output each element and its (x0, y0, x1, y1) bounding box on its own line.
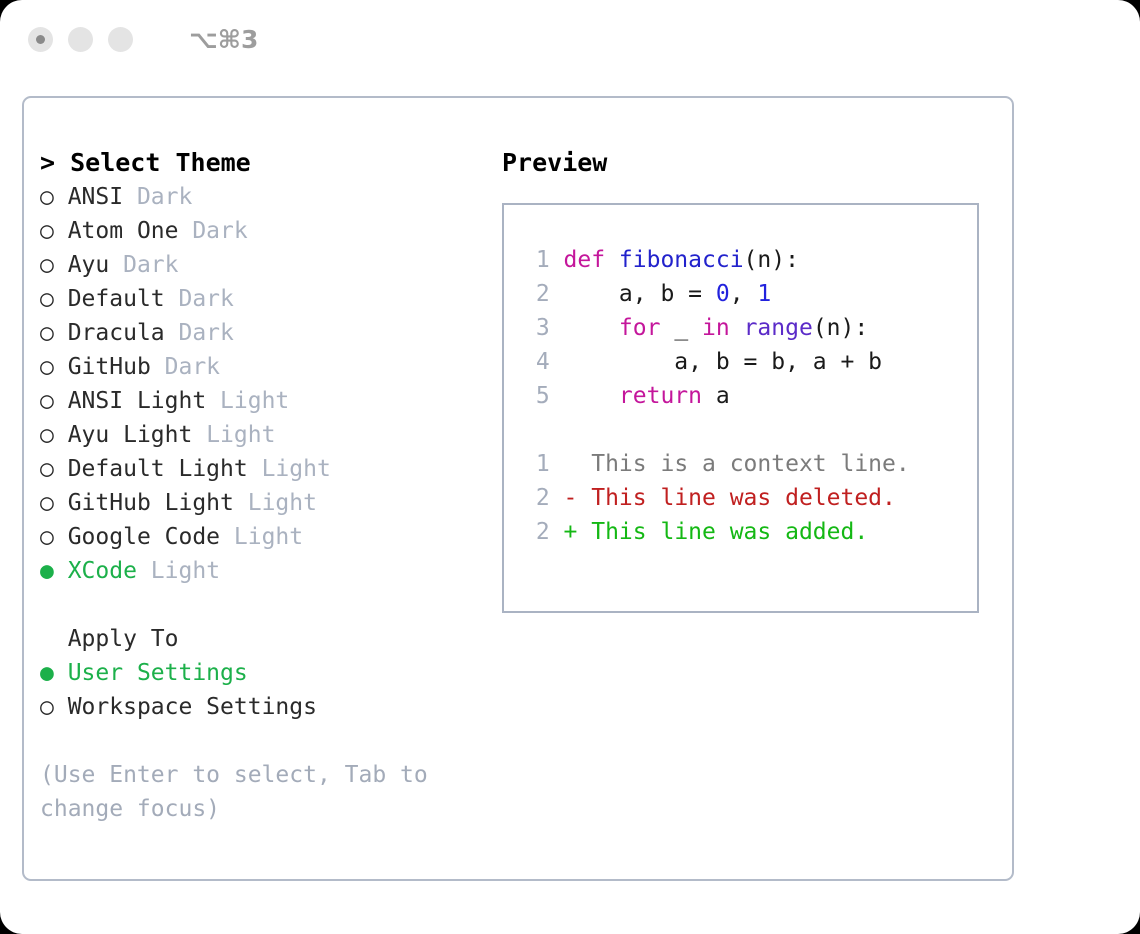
app-window: ⌥⌘3 > Select Theme ○ ANSI Dark○ Atom One… (0, 0, 1140, 934)
code-line: 4 a, b = b, a + b (522, 345, 977, 379)
diff-line: 2- This line was deleted. (522, 481, 977, 515)
theme-list-item[interactable]: ○ Ayu Dark (40, 248, 485, 282)
radio-unselected-icon: ○ (40, 490, 54, 516)
radio-unselected-icon: ○ (40, 456, 54, 482)
theme-name: Default Light (54, 456, 248, 482)
theme-list-item[interactable]: ○ Default Light Light (40, 452, 485, 486)
radio-unselected-icon: ○ (40, 252, 54, 278)
code-sample: 1def fibonacci(n):2 a, b = 0, 13 for _ i… (522, 243, 977, 413)
theme-kind-badge: Light (192, 422, 275, 448)
theme-kind-badge: Light (206, 388, 289, 414)
radio-unselected-icon: ○ (40, 218, 54, 244)
traffic-light-minimize[interactable] (68, 27, 93, 52)
code-token: for (619, 315, 661, 341)
diff-marker: - (564, 485, 578, 511)
theme-kind-badge: Light (220, 524, 303, 550)
radio-unselected-icon: ○ (40, 694, 54, 720)
theme-list-item[interactable]: ○ Ayu Light Light (40, 418, 485, 452)
traffic-light-maximize[interactable] (108, 27, 133, 52)
code-token: (n): (744, 247, 799, 273)
code-token: a, b = (564, 281, 716, 307)
radio-unselected-icon: ○ (40, 388, 54, 414)
theme-list-item[interactable]: ○ Google Code Light (40, 520, 485, 554)
code-token: a, b = b, a + b (564, 349, 883, 375)
code-token (564, 315, 619, 341)
radio-unselected-icon: ○ (40, 524, 54, 550)
diff-line: 1 This is a context line. (522, 447, 977, 481)
apply-to-section: Apply To ● User Settings○ Workspace Sett… (40, 622, 485, 724)
diff-sample: 1 This is a context line.2- This line wa… (522, 447, 977, 549)
theme-name: ANSI Light (54, 388, 206, 414)
code-diff-spacer (522, 413, 977, 447)
radio-unselected-icon: ○ (40, 320, 54, 346)
preview-box: 1def fibonacci(n):2 a, b = 0, 13 for _ i… (502, 203, 979, 613)
theme-list-item[interactable]: ○ Dracula Dark (40, 316, 485, 350)
radio-unselected-icon: ○ (40, 184, 54, 210)
theme-name: Ayu Light (54, 422, 192, 448)
preview-title: Preview (502, 146, 992, 180)
theme-list-item[interactable]: ○ ANSI Light Light (40, 384, 485, 418)
line-number: 3 (522, 311, 550, 345)
theme-kind-badge: Dark (178, 218, 247, 244)
keyboard-shortcut-label: ⌥⌘3 (189, 27, 258, 52)
code-token: 1 (757, 281, 771, 307)
preview-column: Preview 1def fibonacci(n):2 a, b = 0, 13… (502, 146, 992, 613)
main-panel: > Select Theme ○ ANSI Dark○ Atom One Dar… (22, 96, 1014, 881)
theme-list-item[interactable]: ○ Atom One Dark (40, 214, 485, 248)
theme-list: ○ ANSI Dark○ Atom One Dark○ Ayu Dark○ De… (40, 180, 485, 588)
code-token (730, 315, 744, 341)
apply-to-option-label: User Settings (54, 660, 248, 686)
line-number: 4 (522, 345, 550, 379)
theme-kind-badge: Dark (109, 252, 178, 278)
theme-kind-badge: Light (234, 490, 317, 516)
theme-name: Default (54, 286, 165, 312)
apply-to-option[interactable]: ○ Workspace Settings (40, 690, 485, 724)
diff-marker (564, 451, 578, 477)
line-number: 1 (522, 447, 550, 481)
theme-kind-badge: Dark (151, 354, 220, 380)
line-number: 2 (522, 481, 550, 515)
code-token: (n): (813, 315, 868, 341)
code-token: return (619, 383, 702, 409)
theme-name: Ayu (54, 252, 109, 278)
title-bar: ⌥⌘3 (0, 0, 1140, 78)
theme-kind-badge: Light (248, 456, 331, 482)
code-token: 0 (716, 281, 730, 307)
radio-unselected-icon: ○ (40, 354, 54, 380)
theme-selector-column: > Select Theme ○ ANSI Dark○ Atom One Dar… (40, 146, 485, 826)
select-theme-header: > Select Theme (40, 146, 485, 180)
apply-to-option[interactable]: ● User Settings (40, 656, 485, 690)
theme-list-item[interactable]: ○ ANSI Dark (40, 180, 485, 214)
theme-name: GitHub Light (54, 490, 234, 516)
code-token: in (702, 315, 730, 341)
diff-marker: + (564, 519, 578, 545)
traffic-light-close-inner (36, 35, 45, 44)
code-token: fibonacci (619, 247, 744, 273)
radio-selected-icon: ● (40, 660, 54, 686)
diff-text: This line was deleted. (577, 485, 896, 511)
code-line: 2 a, b = 0, 1 (522, 277, 977, 311)
line-number: 2 (522, 515, 550, 549)
code-line: 5 return a (522, 379, 977, 413)
theme-list-item[interactable]: ○ GitHub Light Light (40, 486, 485, 520)
apply-to-option-label: Workspace Settings (54, 694, 317, 720)
theme-kind-badge: Dark (165, 286, 234, 312)
line-number: 5 (522, 379, 550, 413)
theme-name: Atom One (54, 218, 179, 244)
code-line: 3 for _ in range(n): (522, 311, 977, 345)
theme-list-item[interactable]: ● XCode Light (40, 554, 485, 588)
theme-name: GitHub (54, 354, 151, 380)
theme-kind-badge: Light (137, 558, 220, 584)
diff-text: This line was added. (577, 519, 868, 545)
theme-name: Dracula (54, 320, 165, 346)
diff-line: 2+ This line was added. (522, 515, 977, 549)
code-token: , (730, 281, 758, 307)
code-token: range (744, 315, 813, 341)
apply-to-label: Apply To (40, 622, 485, 656)
radio-unselected-icon: ○ (40, 286, 54, 312)
code-token (564, 383, 619, 409)
theme-name: XCode (54, 558, 137, 584)
theme-name: ANSI (54, 184, 123, 210)
code-line: 1def fibonacci(n): (522, 243, 977, 277)
line-number: 2 (522, 277, 550, 311)
radio-unselected-icon: ○ (40, 422, 54, 448)
code-token: def (564, 247, 619, 273)
apply-to-options: ● User Settings○ Workspace Settings (40, 656, 485, 724)
line-number: 1 (522, 243, 550, 277)
theme-list-item[interactable]: ○ GitHub Dark (40, 350, 485, 384)
radio-selected-icon: ● (40, 558, 54, 584)
theme-kind-badge: Dark (165, 320, 234, 346)
code-token: _ (660, 315, 702, 341)
diff-text: This is a context line. (577, 451, 909, 477)
traffic-light-close[interactable] (28, 27, 53, 52)
keyboard-hint-text: (Use Enter to select, Tab to change focu… (40, 758, 460, 826)
theme-name: Google Code (54, 524, 220, 550)
code-token: a (702, 383, 730, 409)
theme-kind-badge: Dark (123, 184, 192, 210)
theme-list-item[interactable]: ○ Default Dark (40, 282, 485, 316)
